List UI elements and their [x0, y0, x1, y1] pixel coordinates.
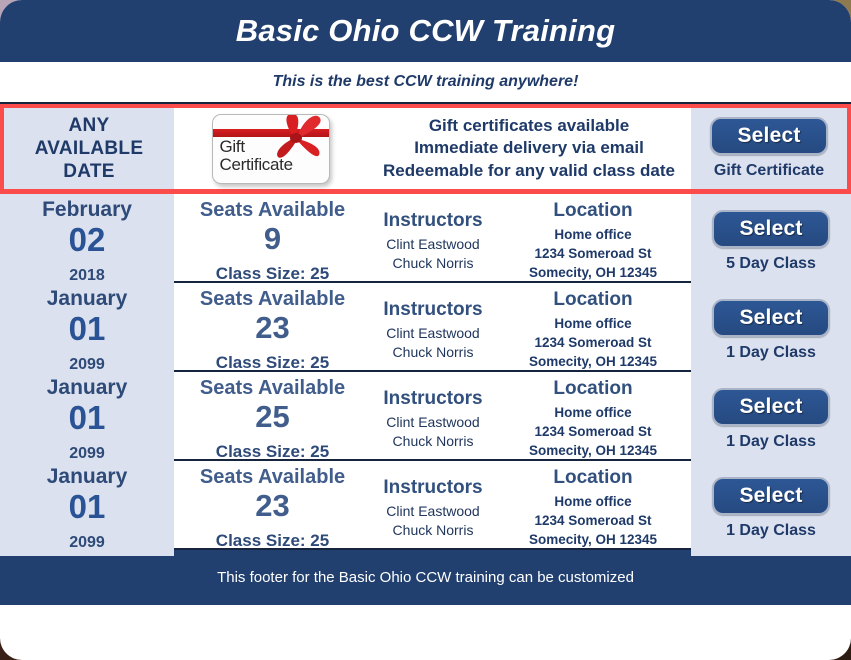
class-date-cell: February 02 2018: [0, 194, 174, 289]
class-seats-cell: Seats Available 25 Class Size: 25: [174, 372, 371, 467]
gift-certificate-icon: Gift Certificate: [212, 114, 330, 184]
class-row[interactable]: January 01 2099 Seats Available 23 Class…: [0, 283, 851, 372]
location-line: Somecity, OH 12345: [529, 352, 657, 371]
seats-available-label: Seats Available: [200, 288, 345, 311]
gift-benefit-3: Redeemable for any valid class date: [383, 160, 675, 183]
select-class-button[interactable]: Select: [712, 477, 830, 515]
tagline-bar: This is the best CCW training anywhere!: [0, 62, 851, 104]
instructors-label: Instructors: [383, 299, 482, 321]
tagline: This is the best CCW training anywhere!: [273, 73, 579, 91]
class-row[interactable]: January 01 2099 Seats Available 25 Class…: [0, 372, 851, 461]
instructor-name: Chuck Norris: [393, 432, 474, 451]
location-line: 1234 Someroad St: [534, 422, 651, 441]
seats-available-label: Seats Available: [200, 466, 345, 489]
class-location-cell: Location Home office 1234 Someroad St So…: [495, 283, 691, 378]
ccw-training-scheduler: Basic Ohio CCW Training This is the best…: [0, 0, 851, 660]
class-size-label: Class Size: 25: [216, 353, 329, 373]
page-title: Basic Ohio CCW Training: [236, 13, 616, 49]
instructor-name: Clint Eastwood: [386, 324, 479, 343]
class-size-label: Class Size: 25: [216, 442, 329, 462]
location-line: Home office: [554, 314, 631, 333]
location-line: 1234 Someroad St: [534, 511, 651, 530]
select-class-label: Select: [739, 217, 802, 241]
location-line: 1234 Someroad St: [534, 244, 651, 263]
any-date-line-2: AVAILABLE: [35, 138, 144, 159]
page-titlebar: Basic Ohio CCW Training: [0, 0, 851, 62]
class-select-cell: Select 1 Day Class: [691, 283, 851, 378]
class-instructors-cell: Instructors Clint Eastwood Chuck Norris: [371, 461, 495, 556]
class-size-label: Class Size: 25: [216, 531, 329, 551]
gift-benefits-cell: Gift certificates available Immediate de…: [367, 108, 691, 189]
seats-available-value: 23: [255, 312, 289, 345]
footer-text: This footer for the Basic Ohio CCW train…: [217, 569, 634, 586]
class-location-cell: Location Home office 1234 Someroad St So…: [495, 194, 691, 289]
class-instructors-cell: Instructors Clint Eastwood Chuck Norris: [371, 194, 495, 289]
location-line: Somecity, OH 12345: [529, 263, 657, 282]
select-class-button[interactable]: Select: [712, 388, 830, 426]
select-class-button[interactable]: Select: [712, 210, 830, 248]
class-day: 01: [69, 312, 106, 347]
location-line: Home office: [554, 492, 631, 511]
gift-certificate-row[interactable]: ANY AVAILABLE DATE Gift: [0, 104, 851, 194]
class-date-cell: January 01 2099: [0, 372, 174, 467]
gift-benefit-2: Immediate delivery via email: [383, 137, 675, 160]
class-instructors-cell: Instructors Clint Eastwood Chuck Norris: [371, 372, 495, 467]
location-label: Location: [553, 200, 632, 222]
select-class-label: Select: [739, 395, 802, 419]
class-select-cell: Select 1 Day Class: [691, 372, 851, 467]
instructor-name: Chuck Norris: [393, 343, 474, 362]
class-instructors-cell: Instructors Clint Eastwood Chuck Norris: [371, 283, 495, 378]
class-month: February: [42, 198, 132, 222]
location-line: Somecity, OH 12345: [529, 530, 657, 549]
class-duration-label: 1 Day Class: [726, 433, 816, 451]
class-location-cell: Location Home office 1234 Someroad St So…: [495, 372, 691, 467]
class-day: 01: [69, 490, 106, 525]
class-seats-cell: Seats Available 23 Class Size: 25: [174, 461, 371, 556]
gift-any-date-label: ANY AVAILABLE DATE: [35, 114, 144, 184]
seats-available-value: 9: [264, 223, 281, 256]
instructor-name: Clint Eastwood: [386, 502, 479, 521]
gift-certificate-image-cell: Gift Certificate: [174, 108, 367, 189]
class-date-cell: January 01 2099: [0, 283, 174, 378]
seats-available-label: Seats Available: [200, 377, 345, 400]
instructors-label: Instructors: [383, 210, 482, 232]
location-label: Location: [553, 378, 632, 400]
class-year: 2099: [69, 534, 105, 552]
any-date-line-1: ANY: [68, 115, 109, 136]
instructor-name: Chuck Norris: [393, 521, 474, 540]
class-seats-cell: Seats Available 9 Class Size: 25: [174, 194, 371, 289]
gift-card-line-2: Certificate: [220, 156, 293, 173]
instructor-name: Clint Eastwood: [386, 413, 479, 432]
seats-available-value: 23: [255, 490, 289, 523]
class-select-cell: Select 5 Day Class: [691, 194, 851, 289]
seats-available-value: 25: [255, 401, 289, 434]
page-footer: This footer for the Basic Ohio CCW train…: [0, 550, 851, 605]
location-line: Home office: [554, 225, 631, 244]
class-row[interactable]: February 02 2018 Seats Available 9 Class…: [0, 194, 851, 283]
class-month: January: [47, 287, 128, 311]
location-label: Location: [553, 289, 632, 311]
select-class-label: Select: [739, 306, 802, 330]
any-date-line-3: DATE: [63, 161, 115, 182]
location-label: Location: [553, 467, 632, 489]
class-month: January: [47, 376, 128, 400]
location-line: 1234 Someroad St: [534, 333, 651, 352]
gift-certificate-card-text: Gift Certificate: [220, 138, 293, 173]
class-day: 02: [69, 223, 106, 258]
seats-available-label: Seats Available: [200, 199, 345, 222]
gift-any-date-cell: ANY AVAILABLE DATE: [4, 108, 174, 189]
instructor-name: Chuck Norris: [393, 254, 474, 273]
class-duration-label: 5 Day Class: [726, 255, 816, 273]
class-year: 2018: [69, 267, 105, 285]
class-date-cell: January 01 2099: [0, 461, 174, 556]
class-row[interactable]: January 01 2099 Seats Available 23 Class…: [0, 461, 851, 550]
instructor-name: Clint Eastwood: [386, 235, 479, 254]
class-size-label: Class Size: 25: [216, 264, 329, 284]
class-year: 2099: [69, 356, 105, 374]
select-class-button[interactable]: Select: [712, 299, 830, 337]
gift-certificate-caption: Gift Certificate: [714, 162, 824, 180]
select-gift-certificate-button[interactable]: Select: [710, 117, 828, 155]
class-year: 2099: [69, 445, 105, 463]
instructors-label: Instructors: [383, 477, 482, 499]
class-seats-cell: Seats Available 23 Class Size: 25: [174, 283, 371, 378]
class-duration-label: 1 Day Class: [726, 522, 816, 540]
select-class-label: Select: [739, 484, 802, 508]
gift-benefits-list: Gift certificates available Immediate de…: [383, 115, 675, 183]
gift-select-cell: Select Gift Certificate: [691, 108, 847, 189]
class-location-cell: Location Home office 1234 Someroad St So…: [495, 461, 691, 556]
location-line: Somecity, OH 12345: [529, 441, 657, 460]
class-select-cell: Select 1 Day Class: [691, 461, 851, 556]
instructors-label: Instructors: [383, 388, 482, 410]
class-duration-label: 1 Day Class: [726, 344, 816, 362]
gift-card-line-1: Gift: [220, 138, 293, 155]
location-line: Home office: [554, 403, 631, 422]
class-month: January: [47, 465, 128, 489]
select-gift-certificate-label: Select: [737, 124, 800, 148]
class-day: 01: [69, 401, 106, 436]
gift-benefit-1: Gift certificates available: [383, 115, 675, 138]
